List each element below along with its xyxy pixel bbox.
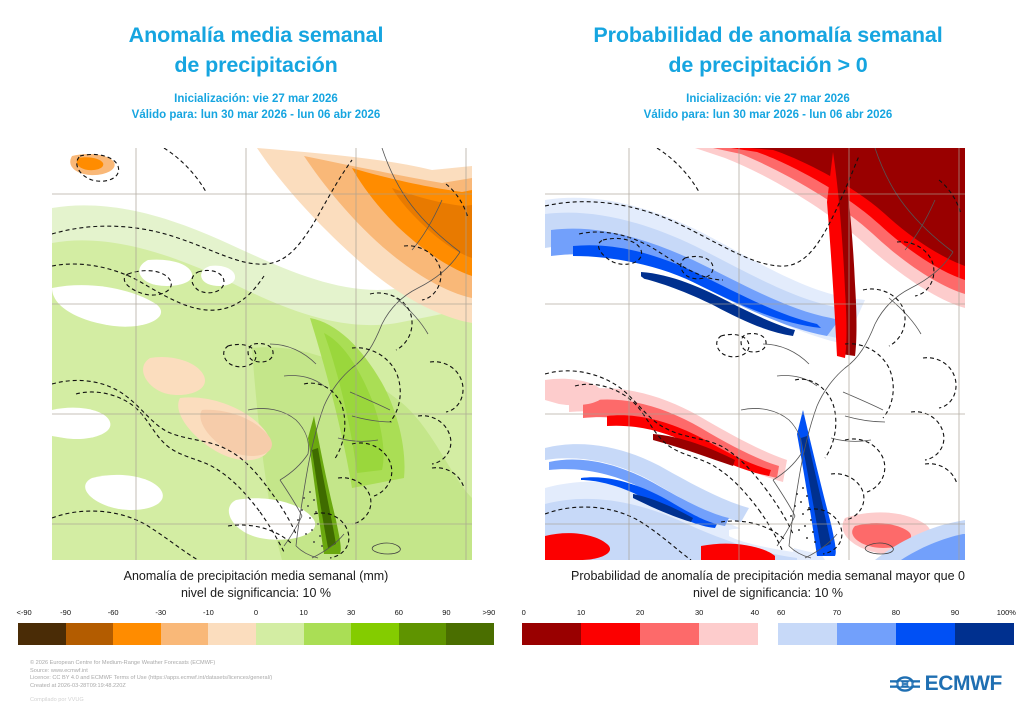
colorbar-segment [304,623,352,645]
colorbar-tick-label: -60 [108,608,119,617]
right-colorbar-low-ticks: 010203040 [522,608,758,621]
colorbar-segment [896,623,955,645]
colorbar-tick-label: 60 [777,608,785,617]
colorbar-segment [161,623,209,645]
right-colorbar-caption-line1: Probabilidad de anomalía de precipitació… [512,568,1024,585]
footer-compiled-by: Compilado por VVUG [30,697,272,705]
left-colorbar-caption-line1: Anomalía de precipitación media semanal … [0,568,512,585]
right-valid-line: Válido para: lun 30 mar 2026 - lun 06 ab… [512,107,1024,123]
footer-credits: © 2026 European Centre for Medium-Range … [30,660,272,705]
colorbar-tick-label: 100% [997,608,1016,617]
footer-source: Source: www.ecmwf.int [30,668,272,676]
colorbar-tick-label: 10 [577,608,585,617]
colorbar-segment [256,623,304,645]
colorbar-segment [699,623,758,645]
ecmwf-logo: ECMWF [890,672,1002,696]
right-colorbar-low-strip [522,623,758,645]
left-title-line1: Anomalía media semanal [0,20,512,50]
left-title-line2: de precipitación [0,50,512,80]
colorbar-tick-label: 80 [892,608,900,617]
left-colorbar: <-90-90-60-30-10010306090>90 [18,608,494,646]
right-colorbar-low: 010203040 [522,608,758,621]
colorbar-tick-label: 10 [299,608,307,617]
colorbar-segment [778,623,837,645]
ecmwf-logo-text: ECMWF [925,672,1002,696]
colorbar-tick-label: <-90 [16,608,31,617]
colorbar-segment [446,623,494,645]
footer-licence: Licence: CC BY 4.0 and ECMWF Terms of Us… [30,675,272,683]
footer-copyright: © 2026 European Centre for Medium-Range … [30,660,272,668]
colorbar-tick-label: 60 [395,608,403,617]
colorbar-segment [640,623,699,645]
colorbar-tick-label: 30 [347,608,355,617]
colorbar-tick-label: -30 [155,608,166,617]
colorbar-segment [837,623,896,645]
colorbar-segment [351,623,399,645]
colorbar-segment [208,623,256,645]
right-colorbar-high: 60708090100% [778,608,1014,621]
right-title-block: Probabilidad de anomalía semanal de prec… [512,0,1024,123]
colorbar-segment [399,623,447,645]
colorbar-tick-label: 70 [833,608,841,617]
colorbar-tick-label: 30 [695,608,703,617]
colorbar-segment [522,623,581,645]
colorbar-tick-label: 0 [254,608,258,617]
left-valid-line: Válido para: lun 30 mar 2026 - lun 06 ab… [0,107,512,123]
right-colorbar-block: Probabilidad de anomalía de precipitació… [512,568,1024,646]
right-colorbars: 010203040 60708090100% [522,608,1014,646]
map-probability-svg [545,148,965,560]
right-colorbar-caption-line2: nivel de significancia: 10 % [512,585,1024,602]
footer-created-at: Created at 2026-03-28T09:19:48.220Z [30,683,272,691]
colorbar-segment [66,623,114,645]
left-colorbar-ticks: <-90-90-60-30-10010306090>90 [18,608,494,621]
map-precipitation-anomaly[interactable] [52,148,472,560]
colorbar-tick-label: 0 [522,608,526,617]
right-init-line: Inicialización: vie 27 mar 2026 [512,91,1024,107]
colorbar-segment [18,623,66,645]
right-title-line2: de precipitación > 0 [512,50,1024,80]
colorbar-tick-label: 90 [951,608,959,617]
colorbar-tick-label: 40 [751,608,759,617]
colorbar-tick-label: >90 [483,608,496,617]
left-init-line: Inicialización: vie 27 mar 2026 [0,91,512,107]
left-colorbar-caption-line2: nivel de significancia: 10 % [0,585,512,602]
right-colorbar-high-ticks: 60708090100% [778,608,1014,621]
forecast-chart-page: Anomalía media semanal de precipitación … [0,0,1024,720]
map-precipitation-probability[interactable] [545,148,965,560]
right-title-line1: Probabilidad de anomalía semanal [512,20,1024,50]
right-colorbar-high-strip [778,623,1014,645]
ecmwf-mark-icon [890,674,920,694]
left-title-block: Anomalía media semanal de precipitación … [0,0,512,123]
colorbar-segment [581,623,640,645]
colorbar-tick-label: -10 [203,608,214,617]
colorbar-tick-label: 90 [442,608,450,617]
colorbar-tick-label: -90 [60,608,71,617]
left-colorbar-block: Anomalía de precipitación media semanal … [0,568,512,646]
colorbar-tick-label: 20 [636,608,644,617]
left-colorbar-strip [18,623,494,645]
map-anomaly-svg [52,148,472,560]
colorbar-segment [113,623,161,645]
colorbar-segment [955,623,1014,645]
